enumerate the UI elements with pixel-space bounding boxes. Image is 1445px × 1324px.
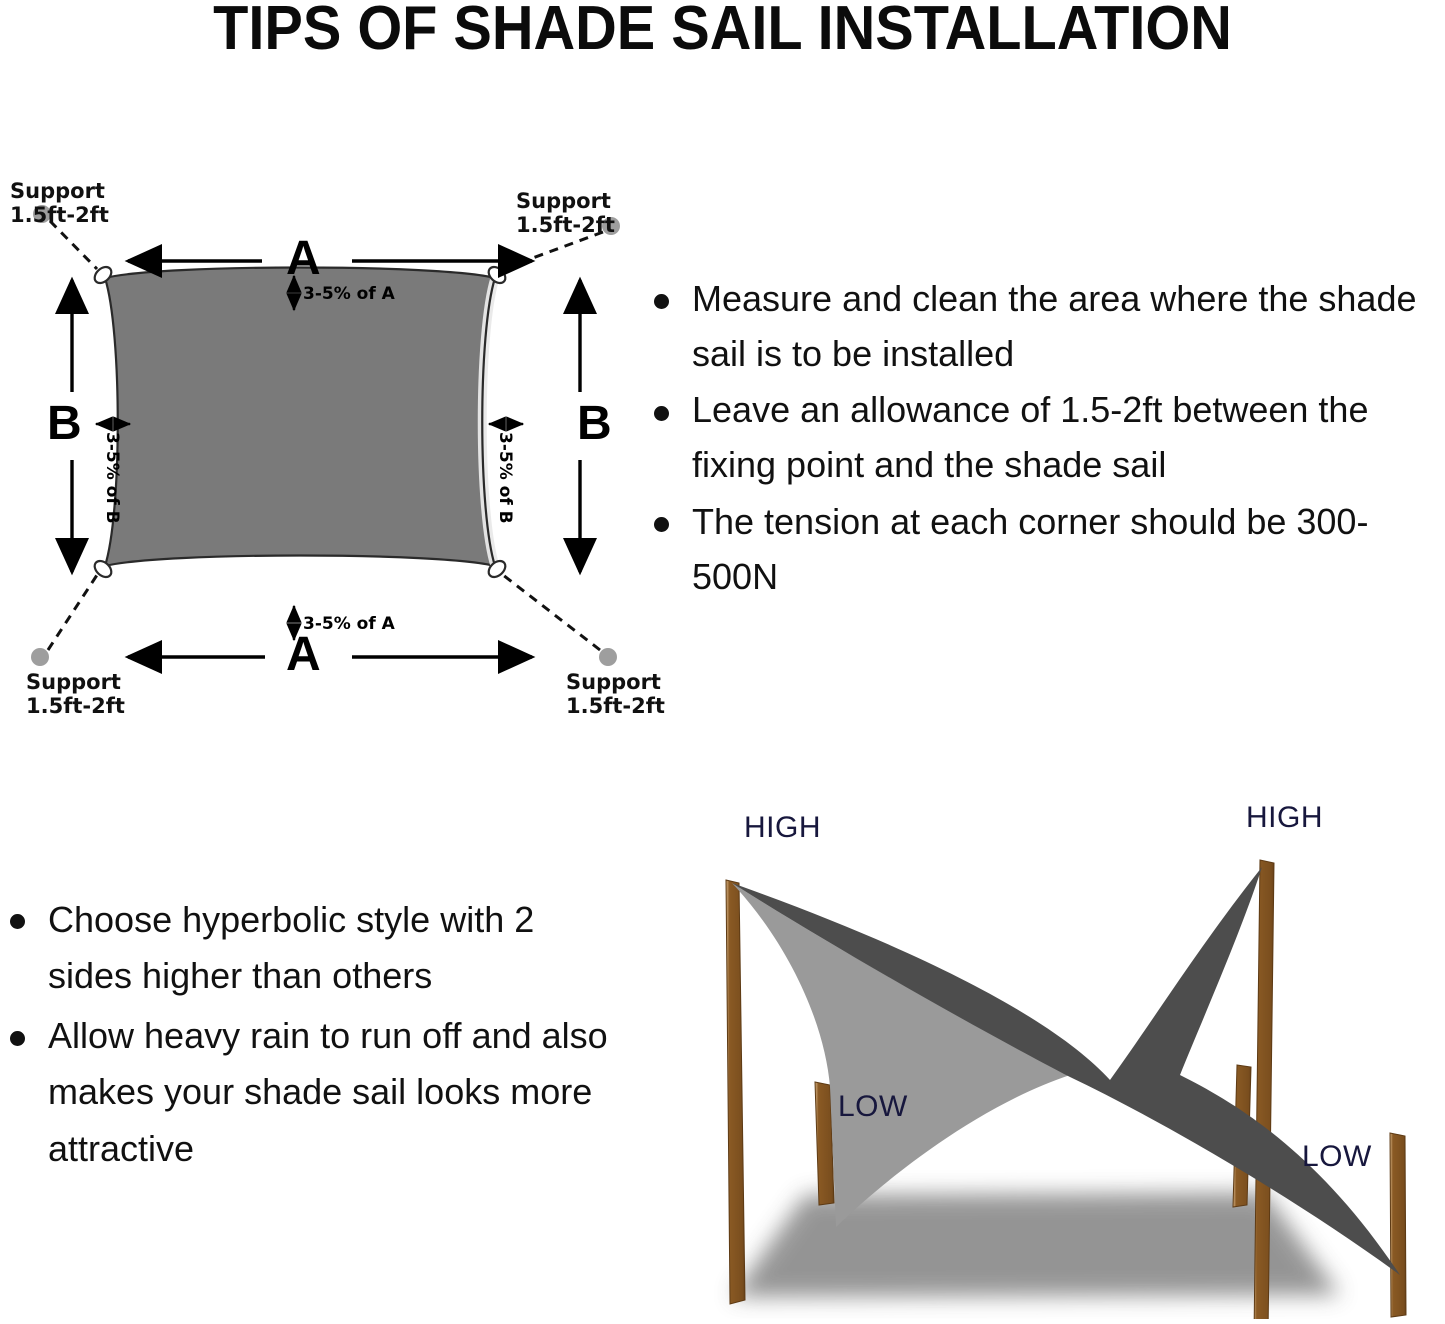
ground-shadow xyxy=(732,1193,1340,1297)
rect-sail-svg xyxy=(0,160,660,730)
support-label-bottom-right: Support 1.5ft-2ft xyxy=(566,671,665,718)
list-item-text: Leave an allowance of 1.5-2ft between th… xyxy=(692,389,1368,485)
hyperbolic-sail-diagram: HIGH HIGH LOW LOW xyxy=(640,775,1445,1319)
support-dot-bottom-left xyxy=(31,648,49,666)
list-item-text: Measure and clean the area where the sha… xyxy=(692,278,1416,374)
support-label-line1: Support xyxy=(566,671,665,695)
tie-line-top-left xyxy=(50,221,97,269)
list-item: Measure and clean the area where the sha… xyxy=(648,272,1445,381)
pole-low-right xyxy=(1390,1133,1406,1317)
rectangular-sail-diagram: Support 1.5ft-2ft Support 1.5ft-2ft Supp… xyxy=(0,160,660,730)
dimension-label-bottom-A: A xyxy=(286,631,321,679)
dimension-label-left-B: B xyxy=(47,400,82,448)
support-label-line1: Support xyxy=(26,671,125,695)
label-low-left: LOW xyxy=(838,1090,908,1124)
dimension-label-top-A: A xyxy=(286,235,321,283)
page-title: TIPS OF SHADE SAIL INSTALLATION xyxy=(51,0,1395,60)
tie-line-top-right xyxy=(503,232,603,269)
label-low-right: LOW xyxy=(1302,1140,1372,1174)
bullet-dot-icon xyxy=(654,294,669,309)
list-item: The tension at each corner should be 300… xyxy=(648,495,1445,604)
dimension-label-right-B: B xyxy=(577,400,612,448)
sail-shape xyxy=(105,268,495,567)
bullet-dot-icon xyxy=(10,1031,25,1046)
list-item-text: Allow heavy rain to run off and also mak… xyxy=(48,1015,608,1168)
hyperbolic-sail-svg xyxy=(640,775,1445,1319)
pole-high-left xyxy=(726,880,745,1304)
list-item: Allow heavy rain to run off and also mak… xyxy=(0,1008,620,1176)
tie-line-bottom-right xyxy=(503,575,600,650)
support-label-line2: 1.5ft-2ft xyxy=(10,204,109,228)
curvature-label-top: 3-5% of A xyxy=(303,284,395,304)
tips-list-bottom: Choose hyperbolic style with 2 sides hig… xyxy=(0,892,620,1181)
support-label-bottom-left: Support 1.5ft-2ft xyxy=(26,671,125,718)
curvature-label-left: 3-5% of B xyxy=(102,432,122,524)
curvature-label-bottom: 3-5% of A xyxy=(303,614,395,634)
sail-panel-light xyxy=(732,883,1070,1227)
support-label-line2: 1.5ft-2ft xyxy=(566,695,665,719)
bullet-dot-icon xyxy=(654,517,669,532)
support-label-top-left: Support 1.5ft-2ft xyxy=(10,180,109,227)
bullet-dot-icon xyxy=(654,406,669,421)
list-item-text: Choose hyperbolic style with 2 sides hig… xyxy=(48,899,534,996)
support-label-top-right: Support 1.5ft-2ft xyxy=(516,190,615,237)
support-label-line2: 1.5ft-2ft xyxy=(516,214,615,238)
tie-line-bottom-left xyxy=(48,575,97,650)
list-item: Choose hyperbolic style with 2 sides hig… xyxy=(0,892,620,1004)
list-item: Leave an allowance of 1.5-2ft between th… xyxy=(648,383,1445,492)
tips-list-top: Measure and clean the area where the sha… xyxy=(648,272,1445,606)
bullet-dot-icon xyxy=(10,914,25,929)
support-dot-bottom-right xyxy=(599,648,617,666)
label-high-left: HIGH xyxy=(744,811,821,845)
sail-right-highlight xyxy=(482,278,495,566)
support-label-line1: Support xyxy=(516,190,615,214)
label-high-right: HIGH xyxy=(1246,801,1323,835)
curvature-label-right: 3-5% of B xyxy=(495,432,515,524)
list-item-text: The tension at each corner should be 300… xyxy=(692,501,1368,597)
support-label-line2: 1.5ft-2ft xyxy=(26,695,125,719)
support-label-line1: Support xyxy=(10,180,109,204)
